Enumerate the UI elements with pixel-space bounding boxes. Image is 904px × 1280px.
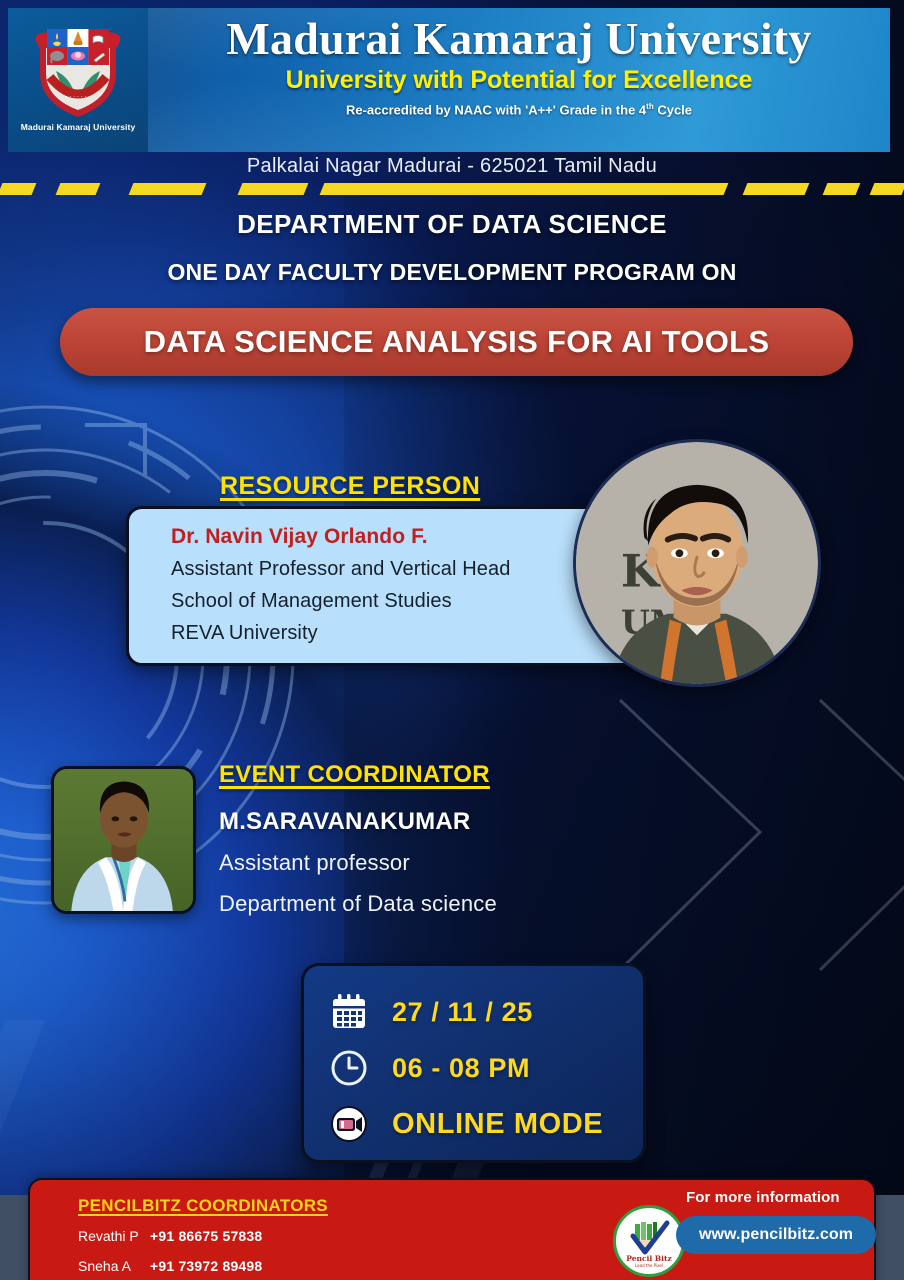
divider-dash — [870, 183, 904, 195]
accreditation-line: Re-accredited by NAAC with 'A++' Grade i… — [148, 102, 890, 117]
divider-dash — [56, 183, 101, 195]
resource-person-portrait-image: KY UM — [576, 442, 818, 684]
university-tagline: University with Potential for Excellence — [148, 66, 890, 95]
banner-text-block: Madurai Kamaraj University University wi… — [148, 8, 890, 152]
website-pill[interactable]: www.pencilbitz.com — [676, 1216, 876, 1254]
website-url[interactable]: www.pencilbitz.com — [699, 1226, 853, 1244]
event-coordinator-portrait-image — [54, 769, 193, 911]
footer-coordinator-1-name: Revathi P — [78, 1228, 150, 1244]
pencilbitz-logo: Pencil Bitz Lead the Pixel — [613, 1205, 685, 1277]
university-name: Madurai Kamaraj University — [148, 14, 890, 64]
footer-coordinator-2: Sneha A+91 73972 89498 — [78, 1258, 262, 1274]
event-mode: ONLINE MODE — [392, 1108, 603, 1141]
topic-banner: DATA SCIENCE ANALYSIS FOR AI TOOLS — [60, 308, 853, 376]
university-crest-icon: . . . . . . . — [26, 11, 130, 125]
pencilbitz-logo-name: Pencil Bitz — [626, 1254, 671, 1263]
university-logo-container: . . . . . . . Madurai Kamaraj University — [8, 8, 148, 152]
footer-info-text: For more information — [686, 1189, 840, 1206]
footer-coordinator-1: Revathi P+91 86675 57838 — [78, 1228, 262, 1244]
divider-dash — [823, 183, 861, 195]
divider-dash — [238, 183, 309, 195]
resource-person-photo: KY UM — [573, 439, 821, 687]
event-coordinator-photo — [51, 766, 196, 914]
department-title: DEPARTMENT OF DATA SCIENCE — [0, 209, 904, 240]
divider-dash — [743, 183, 810, 195]
footer-coordinator-2-name: Sneha A — [78, 1258, 150, 1274]
footer-heading: PENCILBITZ COORDINATORS — [78, 1196, 328, 1216]
pencilbitz-logo-icon: Pencil Bitz Lead the Pixel — [618, 1210, 680, 1272]
resource-person-heading: RESOURCE PERSON — [220, 472, 480, 501]
accreditation-ordinal: th — [646, 102, 654, 111]
clock-icon — [330, 1049, 374, 1087]
event-date-row: 27 / 11 / 25 — [330, 986, 643, 1038]
calendar-icon — [330, 993, 374, 1031]
divider-dash — [320, 183, 729, 195]
event-details-box: 27 / 11 / 25 06 - 08 PM — [301, 963, 646, 1163]
footer-coordinator-1-phone: +91 86675 57838 — [150, 1228, 262, 1244]
event-mode-row: ONLINE MODE — [330, 1098, 643, 1150]
event-time: 06 - 08 PM — [392, 1053, 530, 1084]
accreditation-prefix: Re-accredited by NAAC with 'A++' Grade i… — [346, 102, 646, 117]
divider-dash — [129, 183, 207, 195]
event-coordinator-name: M.SARAVANAKUMAR — [219, 808, 470, 836]
yellow-dash-divider — [0, 183, 904, 197]
event-time-row: 06 - 08 PM — [330, 1042, 643, 1094]
video-camera-icon — [330, 1105, 374, 1143]
poster-root: . . . . . . . Madurai Kamaraj University… — [0, 0, 904, 1280]
event-coordinator-designation: Assistant professor — [219, 850, 410, 876]
pencilbitz-logo-tagline: Lead the Pixel — [635, 1263, 663, 1268]
event-date: 27 / 11 / 25 — [392, 997, 533, 1028]
event-coordinator-department: Department of Data science — [219, 891, 497, 917]
program-subtitle: ONE DAY FACULTY DEVELOPMENT PROGRAM ON — [0, 259, 904, 286]
topic-title: DATA SCIENCE ANALYSIS FOR AI TOOLS — [144, 324, 770, 360]
accreditation-suffix: Cycle — [654, 102, 692, 117]
logo-caption: Madurai Kamaraj University — [21, 122, 136, 132]
event-coordinator-heading: EVENT COORDINATOR — [219, 761, 490, 789]
university-address: Palkalai Nagar Madurai - 625021 Tamil Na… — [0, 155, 904, 178]
footer-coordinator-2-phone: +91 73972 89498 — [150, 1258, 262, 1274]
divider-dash — [0, 183, 36, 195]
svg-text:. . . . . . .: . . . . . . . — [66, 92, 91, 99]
university-header-banner: . . . . . . . Madurai Kamaraj University… — [8, 8, 890, 152]
